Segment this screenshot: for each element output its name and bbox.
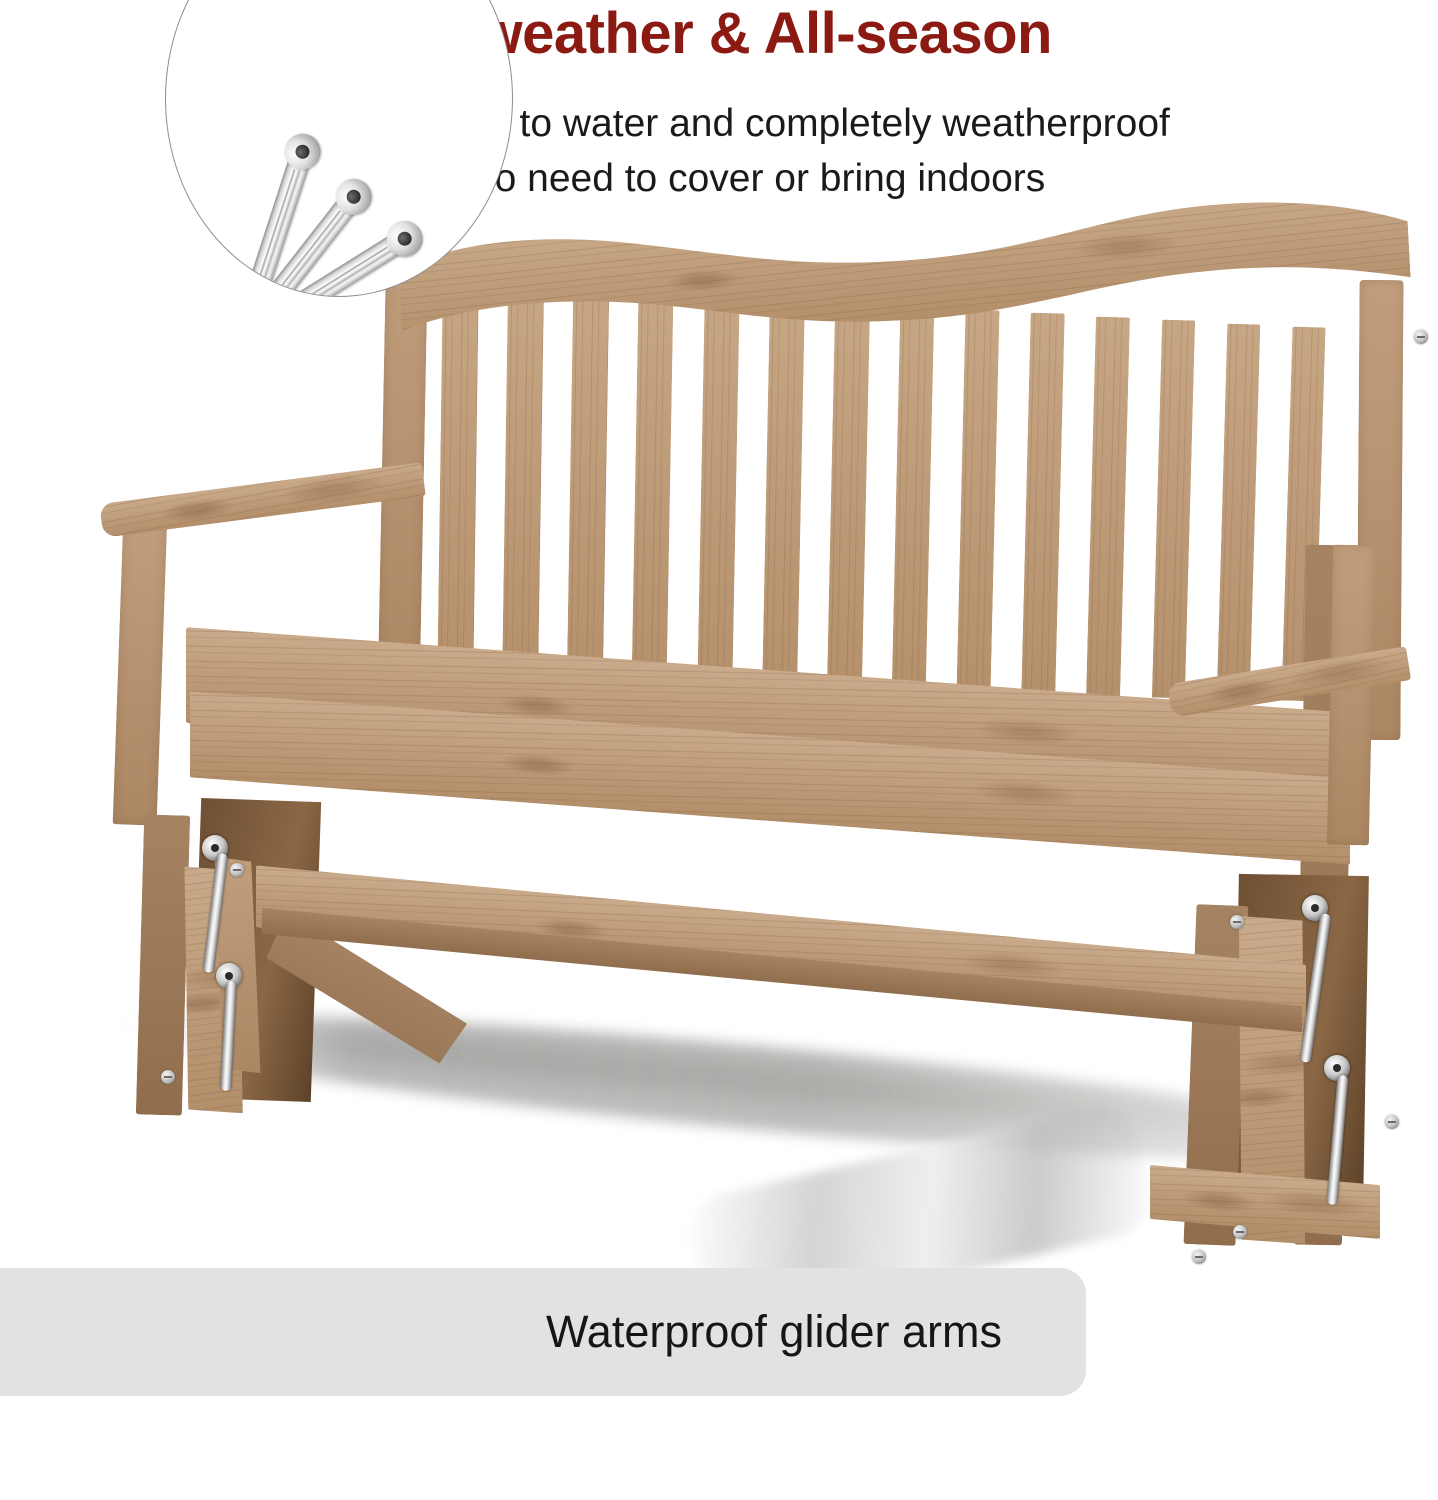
- backrest-slat: [697, 296, 739, 689]
- screw: [1230, 915, 1244, 929]
- glider-arms-fan: [166, 0, 512, 296]
- armrest-support-right: [1327, 545, 1375, 846]
- backrest-slat: [762, 300, 805, 691]
- callout-label: Waterproof glider arms: [546, 1268, 1002, 1396]
- floor-shadow: [170, 992, 1330, 1182]
- backrest-slat: [1216, 323, 1260, 700]
- screw: [1192, 1250, 1206, 1264]
- backrest-slat: [1022, 313, 1065, 696]
- armrest-left: [99, 462, 426, 538]
- backrest-slat: [632, 293, 674, 688]
- callout-detail-oval: [165, 0, 513, 297]
- arm-end-bearing: [380, 214, 430, 264]
- screw: [1385, 1115, 1399, 1129]
- product-image: [0, 215, 1438, 1275]
- backrest-slat: [827, 303, 870, 692]
- arm-end-bearing: [428, 275, 471, 297]
- screw: [161, 1070, 175, 1084]
- backrest-slat: [567, 290, 609, 687]
- screw: [230, 863, 244, 877]
- backrest-slat: [1086, 316, 1130, 697]
- screw: [1414, 330, 1428, 344]
- arm-end-bearing: [280, 129, 325, 174]
- backrest-slat: [957, 310, 1000, 695]
- backrest-slat: [1151, 320, 1195, 699]
- screw: [1233, 1225, 1247, 1239]
- backrest-slat: [892, 306, 935, 693]
- backrest-slat: [437, 283, 479, 683]
- feature-callout: Waterproof glider arms: [0, 1268, 1438, 1396]
- backrest-slat: [502, 286, 544, 684]
- armrest-support-left: [113, 514, 168, 825]
